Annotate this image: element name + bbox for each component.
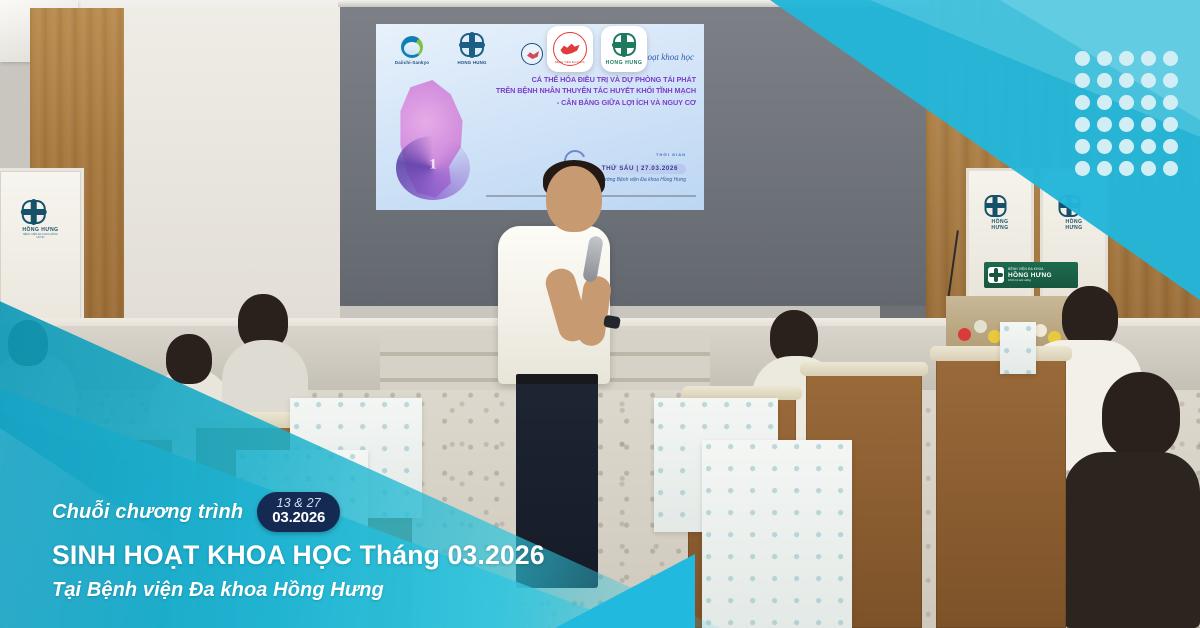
hong-hung-cross-icon	[459, 32, 485, 58]
wooden-chair	[936, 352, 1066, 628]
projected-slide: Daiichi-Sankyo HONG HUNG Sinh hoạt khoa …	[376, 24, 704, 210]
draped-table	[1000, 322, 1036, 374]
corner-badge-group: BỆNH VIỆN ĐA KHOA HONG HUNG	[547, 26, 647, 72]
slide-sponsor-logos: Daiichi-Sankyo HONG HUNG	[390, 32, 554, 65]
hong-hung-door-logo: HỒNG HƯNG	[985, 195, 1016, 231]
horse-figure-icon	[560, 43, 580, 55]
podium-sign: BỆNH VIỆN ĐA KHOA HỒNG HƯNG Chữ có sức s…	[984, 262, 1078, 288]
kicker-row: Chuỗi chương trình 13 & 27 03.2026	[52, 492, 545, 532]
time-label: THỜI GIAN	[592, 152, 686, 157]
swirl-number-graphic	[396, 136, 470, 200]
hong-hung-door-logo: HỒNG HƯNG BỆNH VIỆN ĐA KHOA HỒNG HƯNG	[20, 199, 61, 239]
kicker-text: Chuỗi chương trình	[52, 501, 243, 524]
slide-logo-hong-hung: HONG HUNG	[450, 32, 494, 65]
headline-text: SINH HOẠT KHOA HỌC Tháng 03.2026	[52, 540, 545, 571]
event-banner: HỒNG HƯNG BỆNH VIỆN ĐA KHOA HỒNG HƯNG Da…	[0, 0, 1200, 628]
door-logo-label: HỒNG HƯNG	[1059, 219, 1090, 231]
speaker-head	[546, 166, 602, 232]
footer-copy-block: Chuỗi chương trình 13 & 27 03.2026 SINH …	[52, 492, 545, 602]
draped-table	[702, 440, 852, 628]
audience-head	[166, 334, 212, 384]
hong-hung-cross-icon	[988, 267, 1004, 283]
chair-armrest	[800, 362, 928, 376]
hong-hung-badge-label: HONG HUNG	[606, 60, 643, 66]
subline-text: Tại Bệnh viện Đa khoa Hồng Hưng	[52, 579, 545, 602]
slide-title-line-2: TRÊN BỆNH NHÂN THUYÊN TẮC HUYẾT KHỐI TĨN…	[464, 85, 696, 96]
hong-hung-cross-icon	[612, 33, 636, 57]
time-value: THỨ SÁU | 27.03.2026	[594, 164, 686, 174]
red-circular-emblem-icon: BỆNH VIỆN ĐA KHOA	[553, 32, 587, 66]
badge-red-emblem: BỆNH VIỆN ĐA KHOA	[547, 26, 593, 72]
slide-logo-label-0: Daiichi-Sankyo	[390, 60, 434, 65]
audience-body	[1064, 452, 1200, 628]
podium-sign-text: BỆNH VIỆN ĐA KHOA HỒNG HƯNG Chữ có sức s…	[1008, 268, 1052, 282]
society-circular-icon	[521, 43, 543, 65]
wristwatch	[603, 315, 621, 330]
hong-hung-cross-icon	[985, 195, 1007, 217]
audience-head	[1102, 372, 1180, 458]
slide-time-block: THỜI GIAN THỨ SÁU | 27.03.2026 Hội trườn…	[592, 152, 686, 183]
door-logo-sub: BỆNH VIỆN ĐA KHOA HỒNG HƯNG	[20, 233, 61, 239]
podium-sign-line-3: Chữ có sức sống	[1008, 279, 1052, 282]
slide-logo-label-1: HONG HUNG	[450, 60, 494, 65]
speaker-belt	[516, 374, 598, 384]
date-badge-month-year: 03.2026	[272, 510, 325, 526]
dot-grid-decoration	[1072, 48, 1182, 180]
date-badge: 13 & 27 03.2026	[257, 492, 340, 532]
audience-head	[1062, 286, 1118, 348]
hong-hung-cross-icon	[20, 199, 46, 225]
slide-title: CÁ THỂ HÓA ĐIỀU TRỊ VÀ DỰ PHÒNG TÁI PHÁT…	[464, 74, 696, 108]
door-left: HỒNG HƯNG BỆNH VIỆN ĐA KHOA HỒNG HƯNG	[0, 168, 84, 324]
badge-hong-hung: HONG HUNG	[601, 26, 647, 72]
door-logo-label: HỒNG HƯNG	[985, 219, 1016, 231]
daiichi-sankyo-icon	[401, 36, 423, 58]
back-wall	[124, 10, 340, 328]
slide-title-line-3: - CÂN BẰNG GIỮA LỢI ÍCH VÀ NGUY CƠ	[464, 97, 696, 108]
red-emblem-caption: BỆNH VIỆN ĐA KHOA	[555, 61, 585, 64]
slide-logo-daiichi: Daiichi-Sankyo	[390, 36, 434, 65]
slide-title-line-1: CÁ THỂ HÓA ĐIỀU TRỊ VÀ DỰ PHÒNG TÁI PHÁT	[464, 74, 696, 85]
